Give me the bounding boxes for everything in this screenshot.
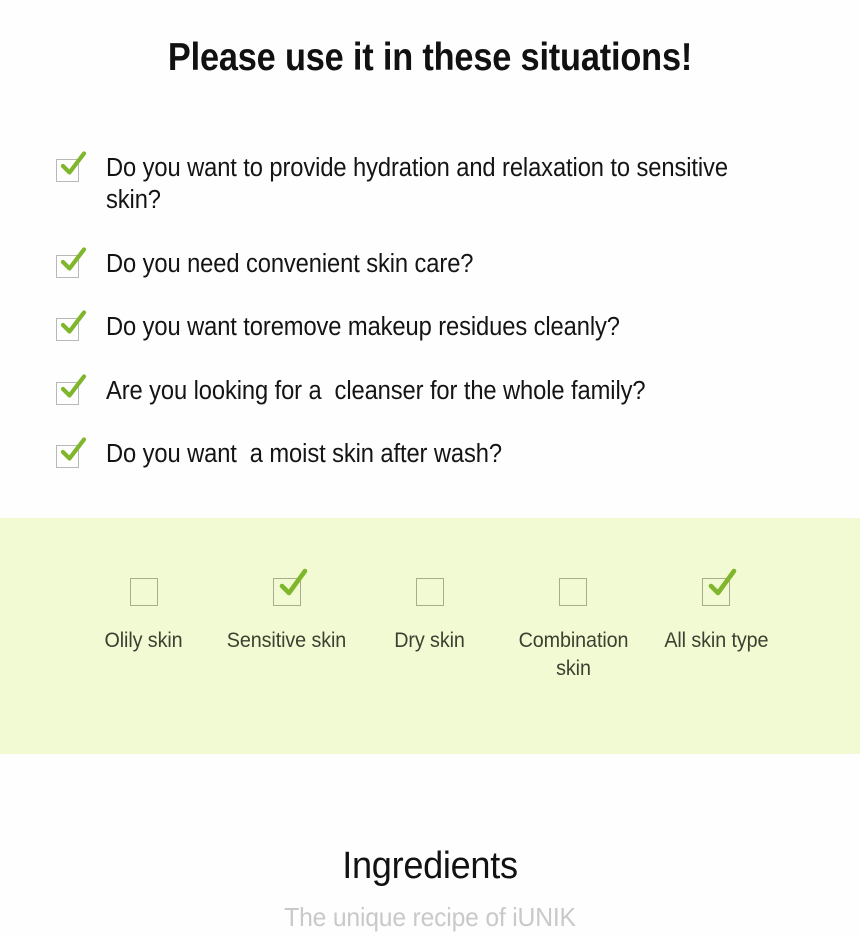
- ingredients-subtitle: The unique recipe of iUNIK: [22, 902, 839, 933]
- skin-type-label: Dry skin: [395, 627, 466, 655]
- checkbox-checked[interactable]: [56, 255, 79, 278]
- list-item-label: Do you want toremove makeup residues cle…: [106, 311, 620, 343]
- skin-type-label: Sensitive skin: [227, 627, 346, 655]
- check-icon: [58, 247, 88, 277]
- skin-type-grid: Olily skin Sensitive skin Dry skin Combi…: [72, 578, 788, 683]
- list-item[interactable]: Do you need convenient skin care?: [56, 248, 816, 280]
- list-item-label: Do you need convenient skin care?: [106, 248, 473, 280]
- checkbox-checked[interactable]: [273, 578, 301, 606]
- skin-type-option-combination[interactable]: Combination skin: [502, 578, 645, 683]
- list-item-label: Do you want to provide hydration and rel…: [106, 152, 766, 217]
- list-item[interactable]: Do you want a moist skin after wash?: [56, 438, 816, 470]
- skin-type-label: Combination skin: [510, 627, 637, 683]
- list-item[interactable]: Are you looking for a cleanser for the w…: [56, 375, 816, 407]
- check-icon: [58, 437, 88, 467]
- checkbox-unchecked[interactable]: [130, 578, 158, 606]
- skin-type-label: Olily skin: [105, 627, 183, 655]
- page-title: Please use it in these situations!: [52, 36, 809, 80]
- ingredients-title: Ingredients: [22, 845, 839, 888]
- checkbox-checked[interactable]: [56, 382, 79, 405]
- skin-type-band: Olily skin Sensitive skin Dry skin Combi…: [0, 518, 860, 754]
- skin-type-option-oily[interactable]: Olily skin: [72, 578, 215, 683]
- skin-type-option-all[interactable]: All skin type: [645, 578, 788, 683]
- ingredients-section: Ingredients The unique recipe of iUNIK: [0, 845, 860, 933]
- check-icon: [276, 568, 310, 602]
- situations-checklist: Do you want to provide hydration and rel…: [56, 152, 816, 470]
- product-detail-page: Please use it in these situations! Do yo…: [0, 0, 860, 937]
- checkbox-unchecked[interactable]: [559, 578, 587, 606]
- checkbox-checked[interactable]: [702, 578, 730, 606]
- list-item-label: Are you looking for a cleanser for the w…: [106, 375, 645, 407]
- skin-type-option-sensitive[interactable]: Sensitive skin: [215, 578, 358, 683]
- checkbox-checked[interactable]: [56, 159, 79, 182]
- check-icon: [58, 374, 88, 404]
- checkbox-checked[interactable]: [56, 445, 79, 468]
- list-item-label: Do you want a moist skin after wash?: [106, 438, 502, 470]
- skin-type-label: All skin type: [664, 627, 768, 655]
- list-item[interactable]: Do you want to provide hydration and rel…: [56, 152, 816, 217]
- checkbox-checked[interactable]: [56, 318, 79, 341]
- check-icon: [58, 151, 88, 181]
- check-icon: [705, 568, 739, 602]
- check-icon: [58, 310, 88, 340]
- list-item[interactable]: Do you want toremove makeup residues cle…: [56, 311, 816, 343]
- checkbox-unchecked[interactable]: [416, 578, 444, 606]
- skin-type-option-dry[interactable]: Dry skin: [358, 578, 501, 683]
